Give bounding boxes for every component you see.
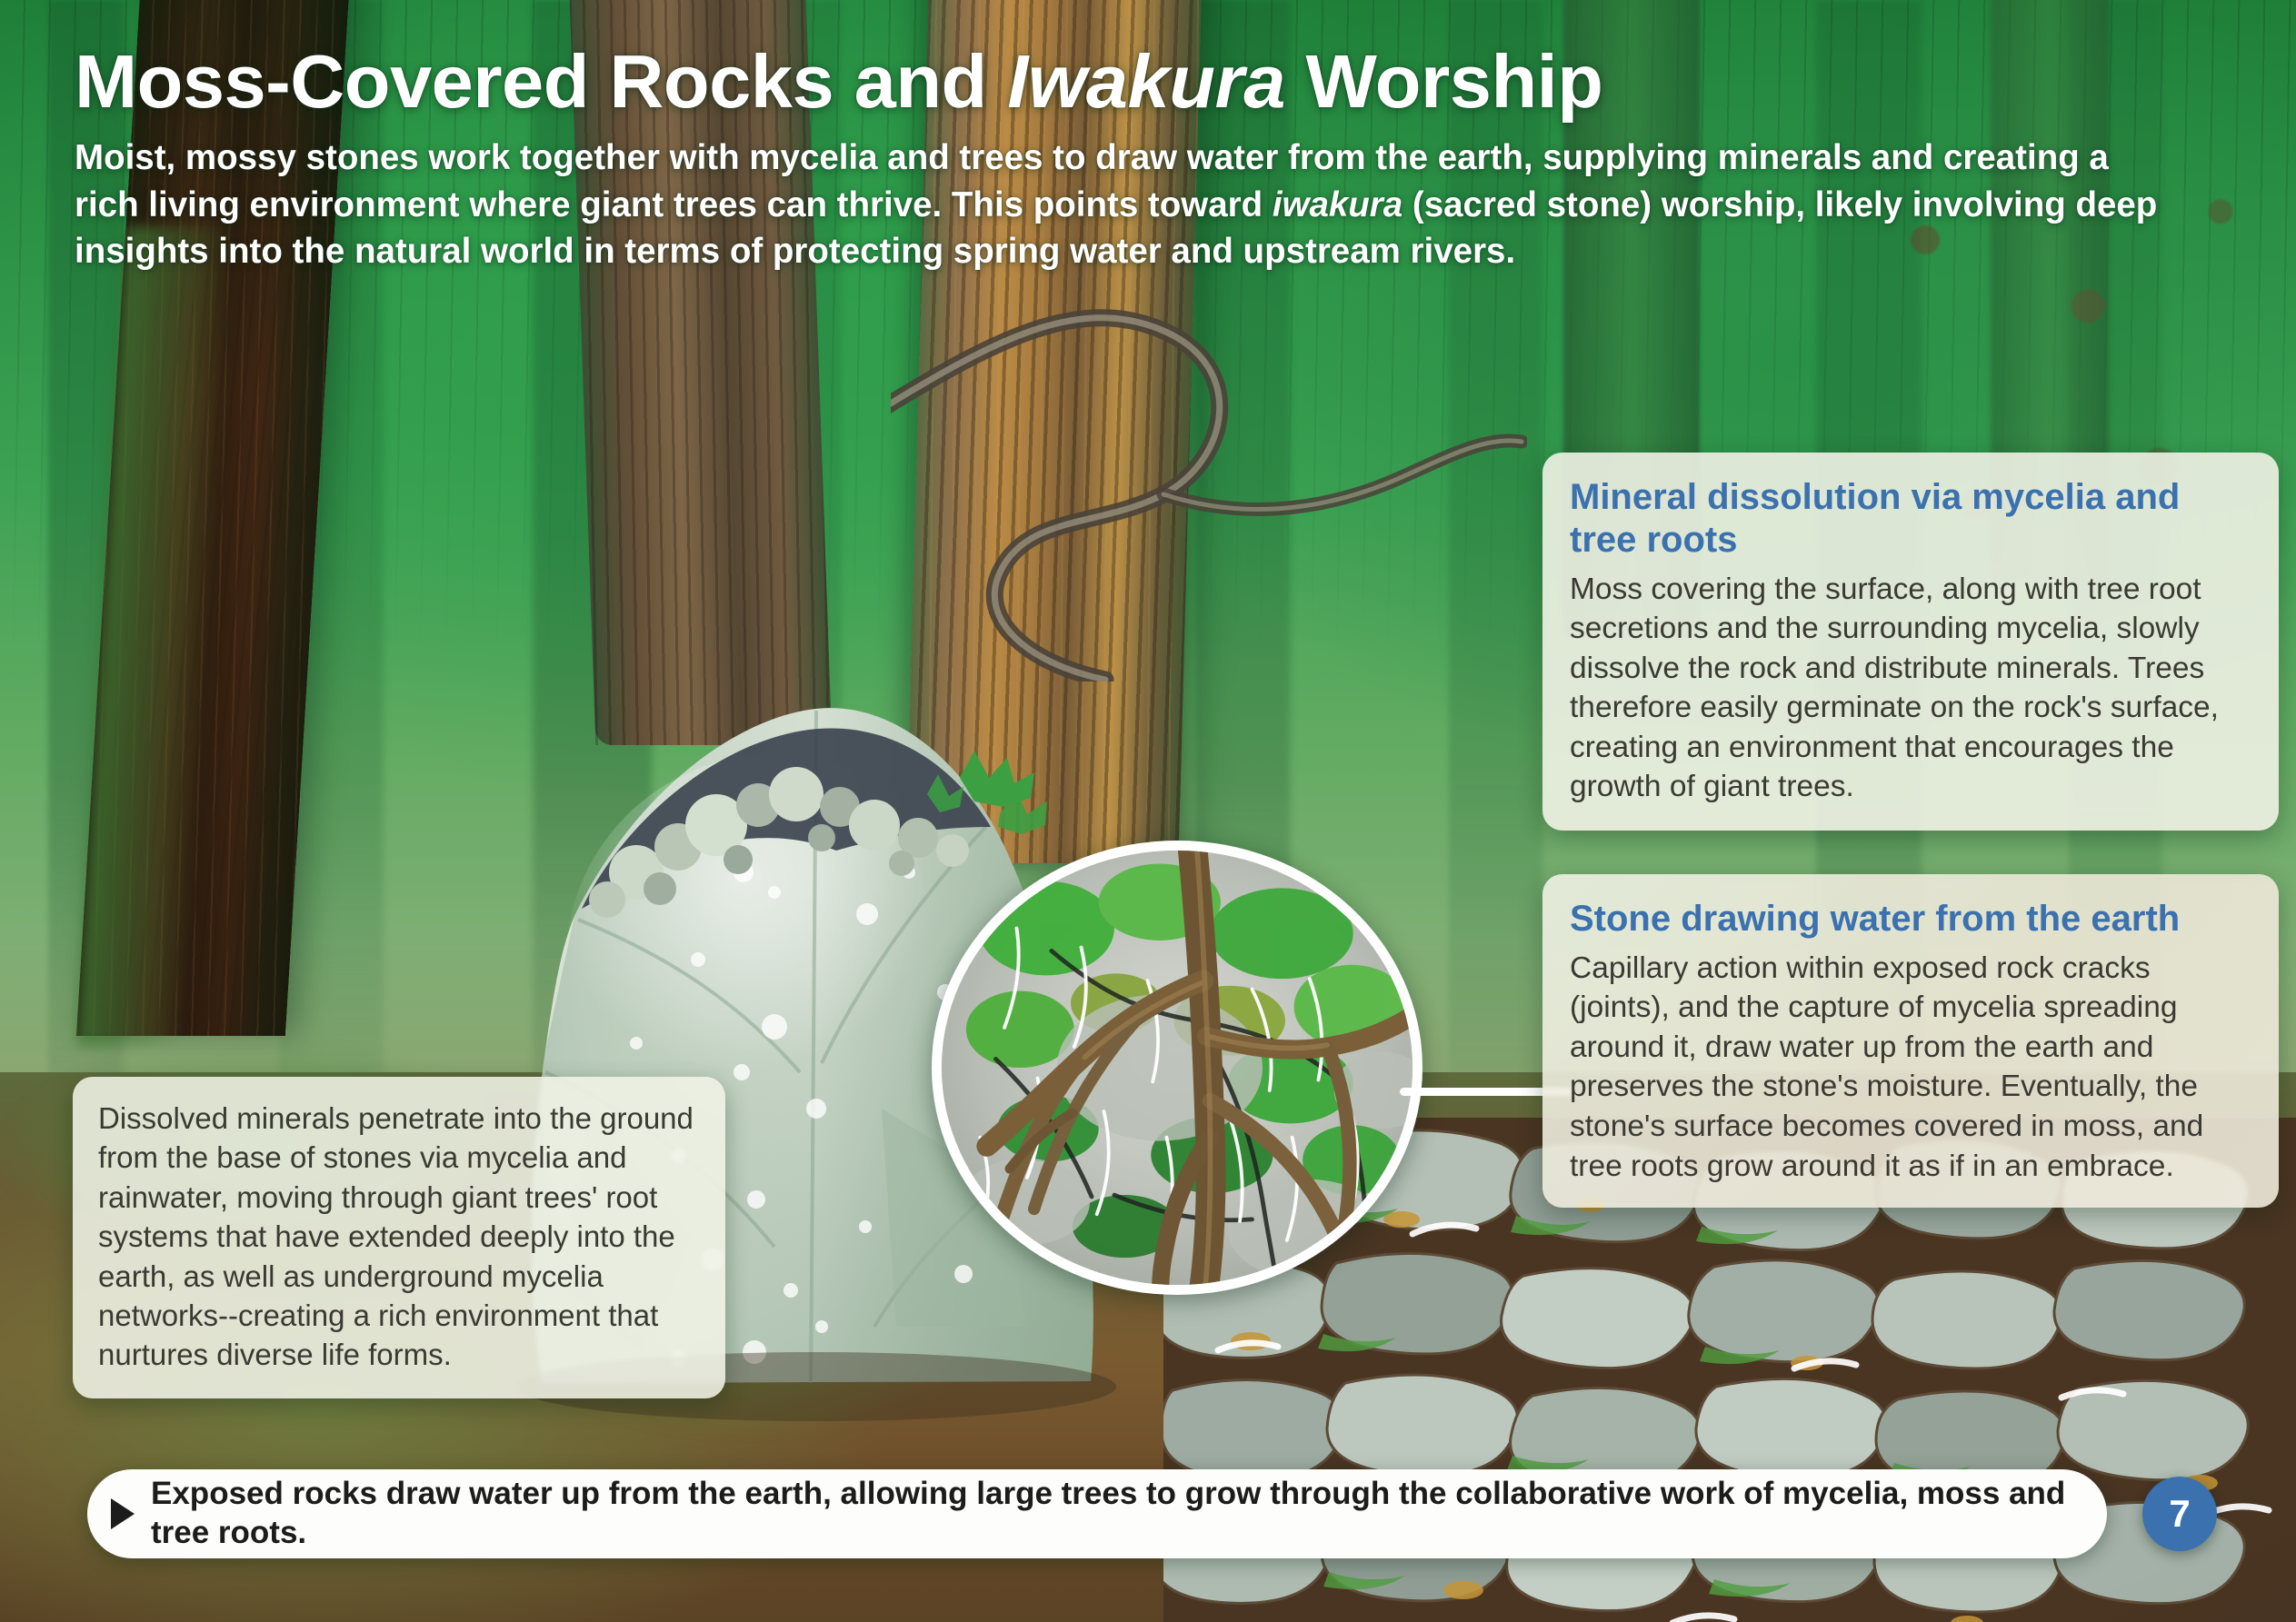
callout-mineral-dissolution-body: Moss covering the surface, along with tr… [1570,570,2253,807]
play-triangle-icon [111,1498,135,1529]
summary-banner: Exposed rocks draw water up from the ear… [87,1469,2107,1558]
page-number-badge: 7 [2142,1477,2217,1551]
page-title-italic-term: Iwakura [1007,39,1285,124]
curving-exposed-root [891,300,1527,682]
callout-stone-drawing-water-body: Capillary action within exposed rock cra… [1570,949,2253,1186]
tree-trunk-left-moss [76,227,235,1045]
page-title-part-1: Moss-Covered Rocks and [75,39,1007,124]
page-title: Moss-Covered Rocks and Iwakura Worship [75,42,2165,122]
header: Moss-Covered Rocks and Iwakura Worship M… [75,42,2165,275]
callout-mineral-dissolution-title: Mineral dissolution via mycelia and tree… [1570,476,2253,562]
page-subtitle-italic-term: iwakura [1273,185,1403,224]
callout-mineral-dissolution: Mineral dissolution via mycelia and tree… [1542,453,2279,831]
callout-dissolved-minerals-body: Dissolved minerals penetrate into the gr… [98,1099,700,1375]
page-subtitle: Moist, mossy stones work together with m… [75,134,2165,275]
callout-stone-drawing-water-title: Stone drawing water from the earth [1570,898,2253,940]
page-title-part-2: Worship [1285,39,1603,124]
slide-canvas: Moss-Covered Rocks and Iwakura Worship M… [0,0,2296,1622]
callout-dissolved-minerals: Dissolved minerals penetrate into the gr… [73,1077,725,1398]
callout-stone-drawing-water: Stone drawing water from the earth Capil… [1542,874,2279,1208]
summary-text: Exposed rocks draw water up from the ear… [151,1475,2107,1552]
detail-circle-roots-on-mossy-rock [932,841,1423,1295]
